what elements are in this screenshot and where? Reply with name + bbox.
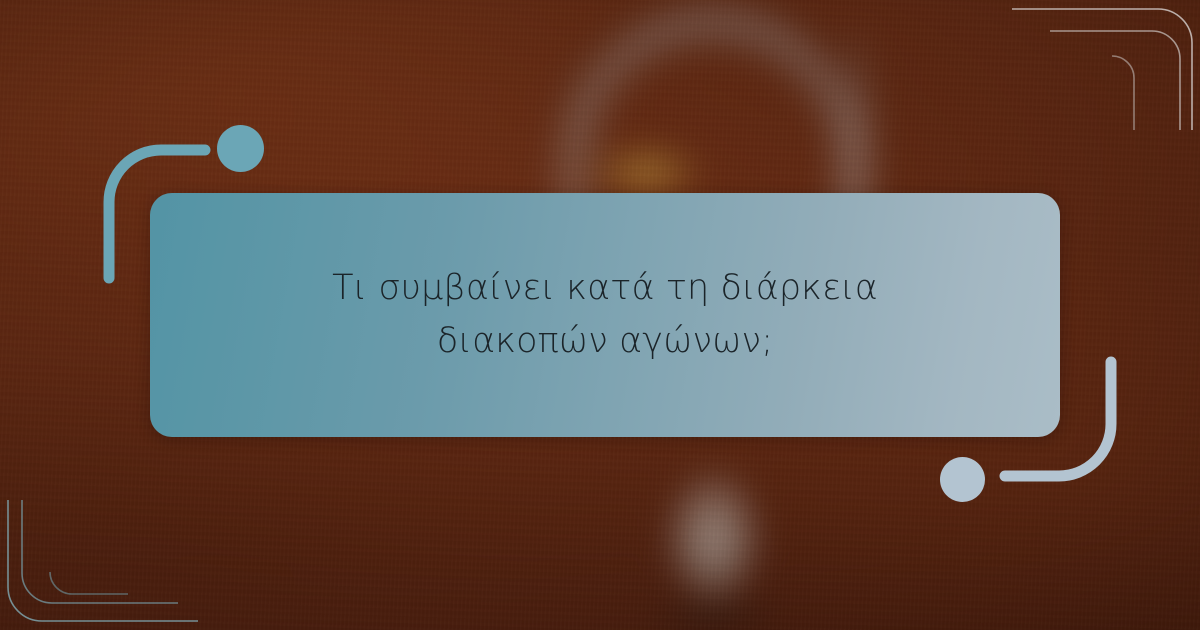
decorative-dot-bottom-right [940, 457, 985, 502]
quote-text: Τι συμβαίνει κατά τη διάρκεια διακοπών α… [255, 262, 955, 368]
quote-card-image: Τι συμβαίνει κατά τη διάρκεια διακοπών α… [0, 0, 1200, 630]
decorative-dot-top-left [217, 125, 264, 172]
quote-card: Τι συμβαίνει κατά τη διάρκεια διακοπών α… [150, 193, 1060, 437]
